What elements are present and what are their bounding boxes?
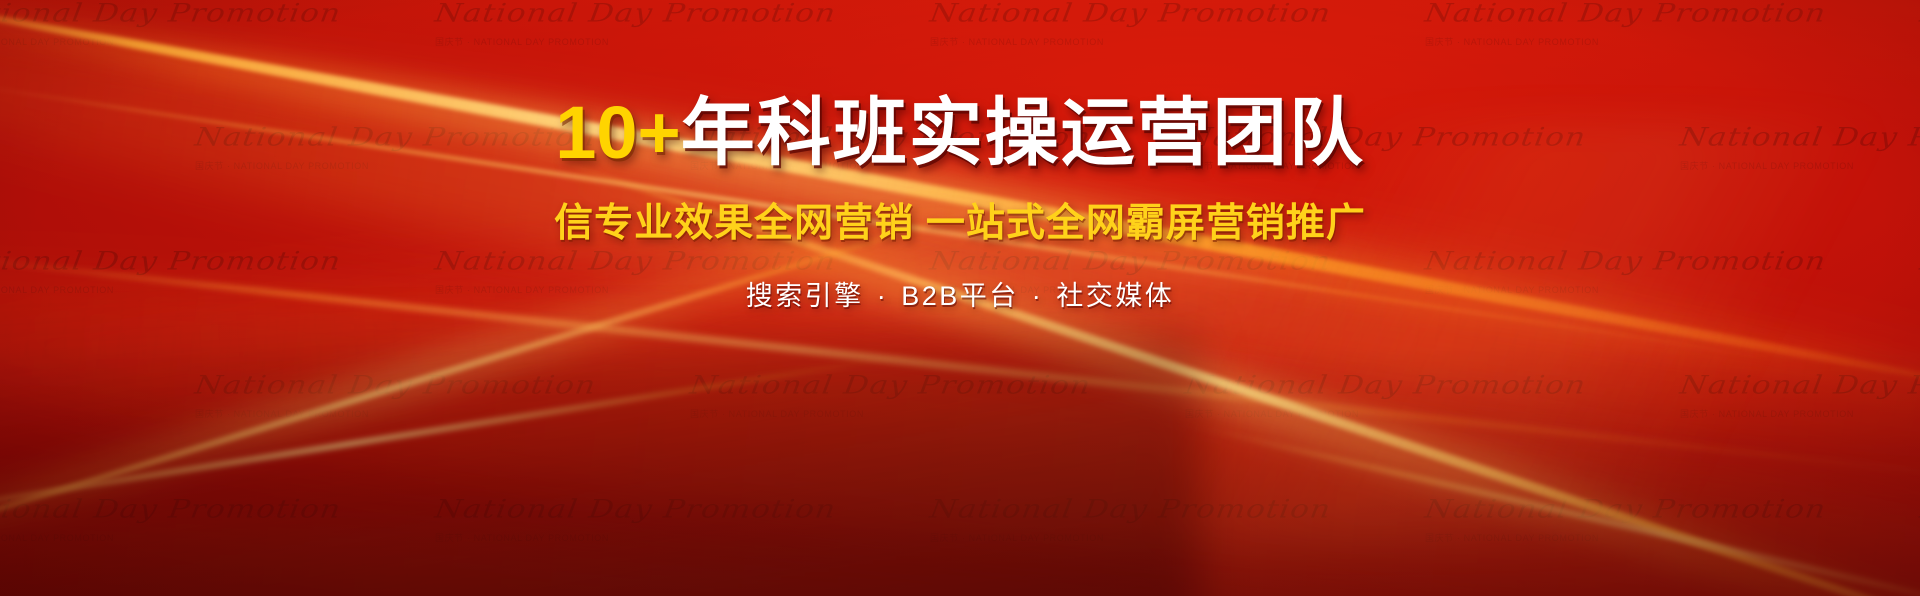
watermark-tile: National Day Promotion国庆节 · NATIONAL DAY… xyxy=(0,494,435,543)
tagline-separator-1: · xyxy=(874,281,892,311)
tagline-item-social-media: 社交媒体 xyxy=(1056,281,1174,311)
watermark-tile: National Day Promotion国庆节 · NATIONAL DAY… xyxy=(930,0,1425,47)
watermark-sub-text: 国庆节 · NATIONAL DAY PROMOTION xyxy=(435,38,930,47)
watermark-sub-text: 国庆节 · NATIONAL DAY PROMOTION xyxy=(195,410,690,419)
watermark-sub-text: 国庆节 · NATIONAL DAY PROMOTION xyxy=(435,534,930,543)
tagline-item-b2b-platform: B2B平台 xyxy=(901,281,1019,311)
watermark-tile: National Day Promotion国庆节 · NATIONAL DAY… xyxy=(1680,370,1920,419)
watermark-tile: National Day Promotion国庆节 · NATIONAL DAY… xyxy=(195,370,690,419)
watermark-sub-text: 国庆节 · NATIONAL DAY PROMOTION xyxy=(1425,38,1920,47)
watermark-row: National Day Promotion国庆节 · NATIONAL DAY… xyxy=(0,332,1920,456)
watermark-main-text: National Day Promotion xyxy=(0,496,437,521)
watermark-main-text: National Day Promotion xyxy=(1183,372,1682,397)
tagline-item-search-engine: 搜索引擎 xyxy=(746,281,864,311)
watermark-tile: National Day Promotion国庆节 · NATIONAL DAY… xyxy=(435,0,930,47)
watermark-main-text: National Day Promotion xyxy=(193,372,692,397)
watermark-sub-text: 国庆节 · NATIONAL DAY PROMOTION xyxy=(1425,534,1920,543)
facet-shadow-lower-left xyxy=(0,330,1200,596)
watermark-row: National Day Promotion国庆节 · NATIONAL DAY… xyxy=(0,456,1920,580)
watermark-main-text: National Day Promotion xyxy=(688,372,1187,397)
subline: 信专业效果全网营销 一站式全网霸屏营销推广 xyxy=(0,192,1920,248)
watermark-main-text: National Day Promotion xyxy=(433,496,932,521)
headline: 10+年科班实操运营团队 xyxy=(0,96,1920,170)
ray-bottom-left xyxy=(0,348,937,526)
watermark-sub-text: 国庆节 · NATIONAL DAY PROMOTION xyxy=(0,38,435,47)
watermark-sub-text: 国庆节 · NATIONAL DAY PROMOTION xyxy=(930,38,1425,47)
watermark-main-text: National Day Promotion xyxy=(928,496,1427,521)
watermark-tile: National Day Promotion国庆节 · NATIONAL DAY… xyxy=(0,0,435,47)
watermark-tile: National Day Promotion国庆节 · NATIONAL DAY… xyxy=(1425,494,1920,543)
watermark-main-text: National Day Promotion xyxy=(0,0,437,25)
watermark-main-text: National Day Promotion xyxy=(433,0,932,25)
watermark-row: National Day Promotion国庆节 · NATIONAL DAY… xyxy=(0,0,1920,84)
watermark-sub-text: 国庆节 · NATIONAL DAY PROMOTION xyxy=(690,410,1185,419)
tagline: 搜索引擎 · B2B平台 · 社交媒体 xyxy=(0,274,1920,313)
watermark-row: National Day Promotion国庆节 · NATIONAL DAY… xyxy=(0,580,1920,596)
watermark-main-text: National Day Promotion xyxy=(1423,496,1920,521)
headline-number: 10+ xyxy=(555,91,681,174)
watermark-tile: National Day Promotion国庆节 · NATIONAL DAY… xyxy=(930,494,1425,543)
promotional-banner: National Day Promotion国庆节 · NATIONAL DAY… xyxy=(0,0,1920,596)
banner-content: 10+年科班实操运营团队 信专业效果全网营销 一站式全网霸屏营销推广 搜索引擎 … xyxy=(0,96,1920,313)
headline-text: 年科班实操运营团队 xyxy=(681,91,1365,174)
watermark-sub-text: 国庆节 · NATIONAL DAY PROMOTION xyxy=(1680,410,1920,419)
watermark-tile: National Day Promotion国庆节 · NATIONAL DAY… xyxy=(690,370,1185,419)
watermark-main-text: National Day Promotion xyxy=(1678,372,1920,397)
watermark-sub-text: 国庆节 · NATIONAL DAY PROMOTION xyxy=(930,534,1425,543)
ray-right-edge xyxy=(1179,420,1920,596)
watermark-tile: National Day Promotion国庆节 · NATIONAL DAY… xyxy=(1185,370,1680,419)
watermark-sub-text: 国庆节 · NATIONAL DAY PROMOTION xyxy=(1185,410,1680,419)
watermark-tile: National Day Promotion国庆节 · NATIONAL DAY… xyxy=(435,494,930,543)
sheen-lower xyxy=(0,430,1920,596)
watermark-main-text: National Day Promotion xyxy=(928,0,1427,25)
watermark-sub-text: 国庆节 · NATIONAL DAY PROMOTION xyxy=(0,534,435,543)
watermark-main-text: National Day Promotion xyxy=(1423,0,1920,25)
tagline-separator-2: · xyxy=(1029,281,1047,311)
watermark-tile: National Day Promotion国庆节 · NATIONAL DAY… xyxy=(1425,0,1920,47)
